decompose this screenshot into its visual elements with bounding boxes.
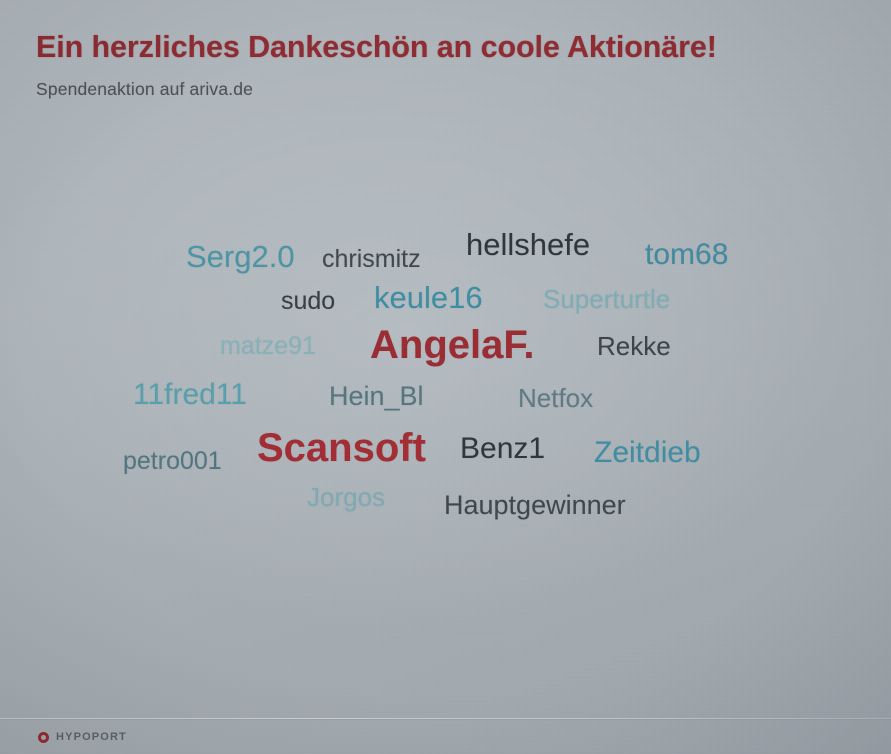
cloud-word[interactable]: petro001 [123, 449, 222, 474]
cloud-word[interactable]: keule16 [374, 282, 483, 313]
cloud-word[interactable]: hellshefe [466, 229, 590, 260]
cloud-word[interactable]: Zeitdieb [594, 438, 701, 468]
word-cloud: Serg2.0chrismitzhellshefetom68sudokeule1… [0, 0, 891, 754]
cloud-word[interactable]: Scansoft [257, 428, 426, 468]
cloud-word[interactable]: 11fred11 [133, 380, 247, 410]
slide-header: Ein herzliches Dankeschön an coole Aktio… [36, 30, 856, 100]
cloud-word[interactable]: Rekke [597, 333, 671, 359]
slide-surface: Ein herzliches Dankeschön an coole Aktio… [0, 0, 891, 754]
hypoport-ring-icon [38, 732, 49, 743]
cloud-word[interactable]: Netfox [518, 385, 593, 411]
cloud-word[interactable]: chrismitz [322, 247, 421, 272]
footer-logo: HYPOPORT [38, 731, 127, 743]
photo-vignette-overlay [0, 0, 891, 754]
hypoport-wordmark: HYPOPORT [56, 731, 127, 743]
cloud-word[interactable]: Jorgos [307, 484, 385, 510]
cloud-word[interactable]: AngelaF. [370, 325, 534, 365]
cloud-word[interactable]: tom68 [645, 240, 728, 270]
page-title: Ein herzliches Dankeschön an coole Aktio… [36, 30, 856, 64]
cloud-word[interactable]: Hauptgewinner [444, 492, 626, 519]
cloud-word[interactable]: Hein_Bl [329, 383, 424, 410]
cloud-word[interactable]: matze91 [220, 334, 316, 359]
cloud-word[interactable]: Benz1 [460, 434, 545, 464]
page-subtitle: Spendenaktion auf ariva.de [36, 79, 856, 100]
footer-divider [0, 718, 891, 719]
cloud-word[interactable]: sudo [281, 289, 335, 314]
cloud-word[interactable]: Superturtle [543, 286, 670, 312]
photo-grain-overlay [0, 0, 891, 754]
cloud-word[interactable]: Serg2.0 [186, 241, 295, 272]
